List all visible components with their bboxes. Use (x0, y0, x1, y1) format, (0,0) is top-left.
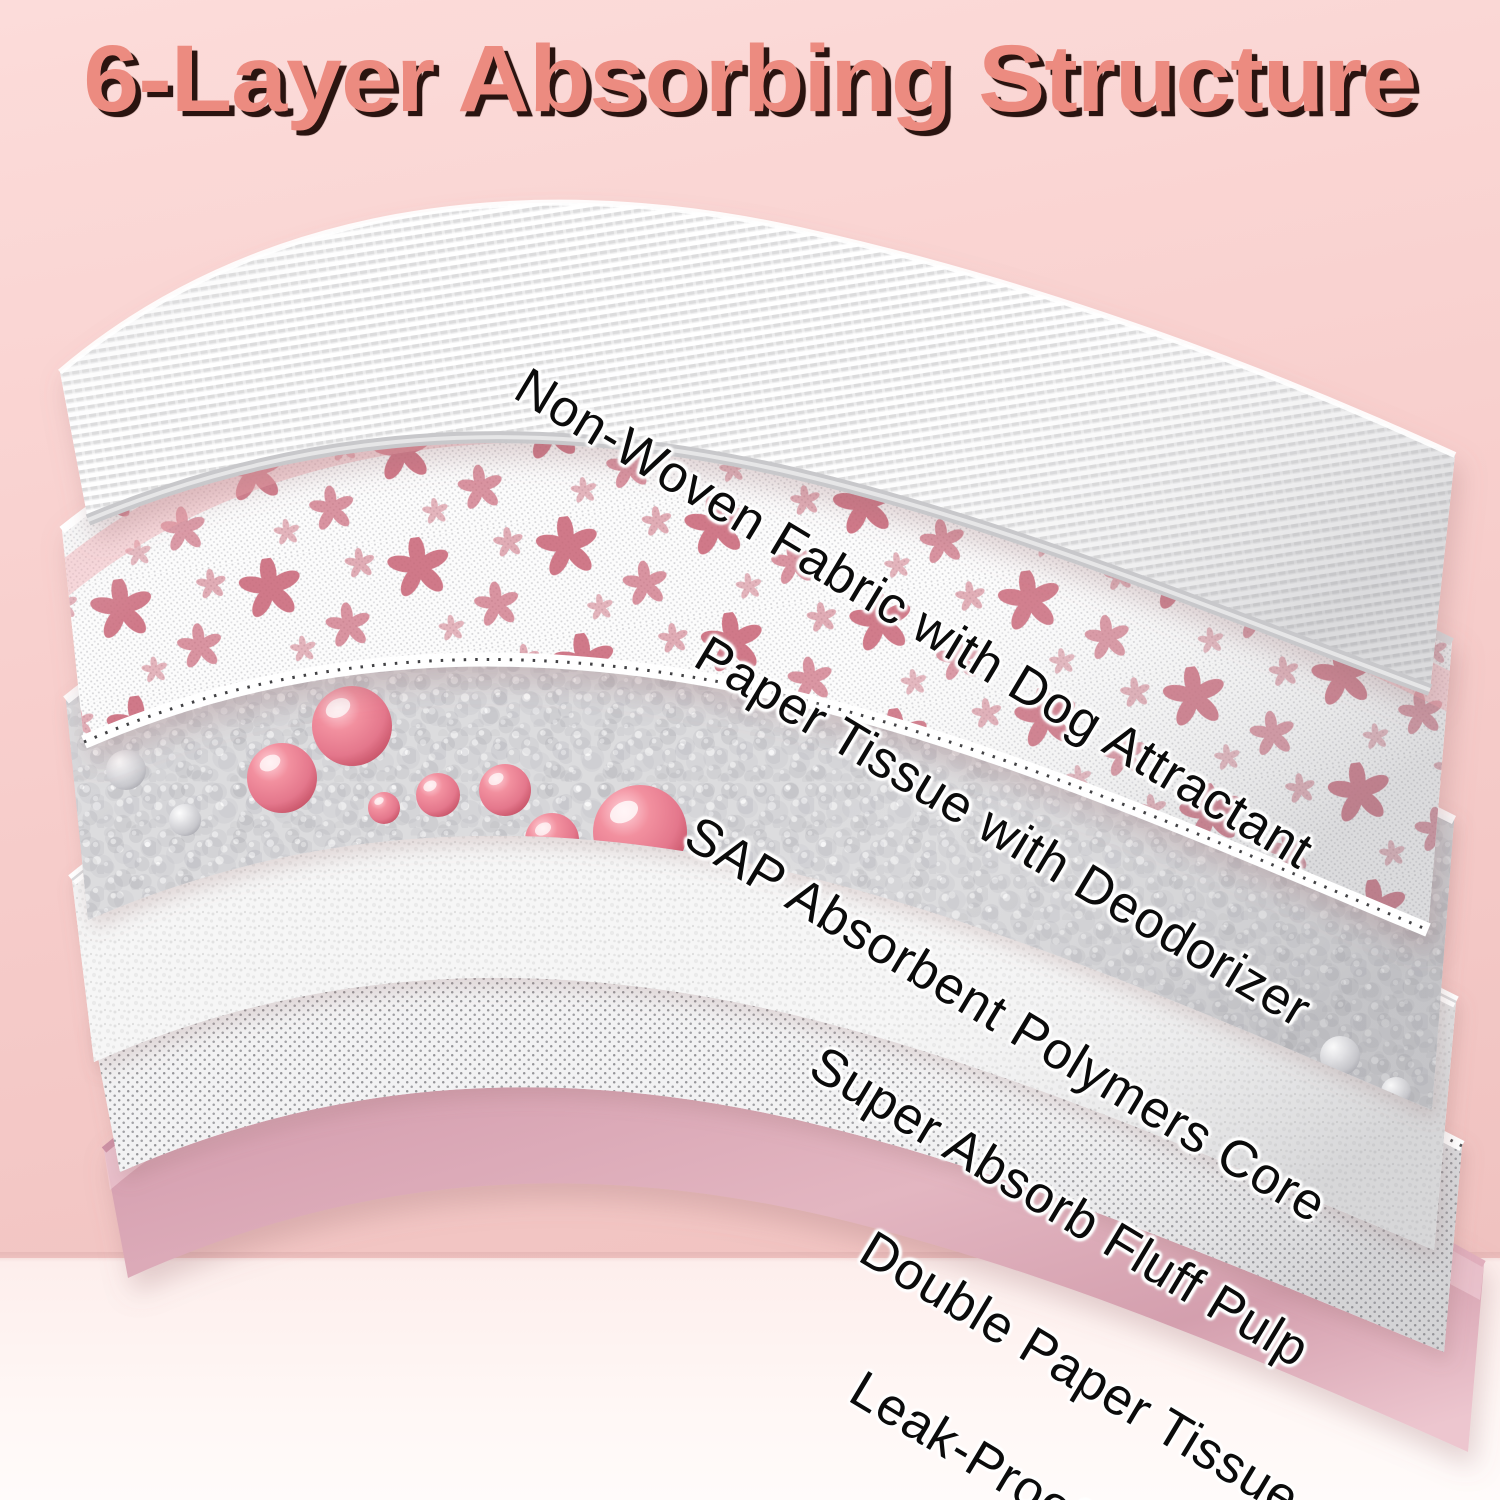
layer-stack-svg (0, 0, 1500, 1500)
infographic-canvas: 6-Layer Absorbing Structure (0, 0, 1500, 1500)
layer-stack-illustration (0, 0, 1500, 1500)
